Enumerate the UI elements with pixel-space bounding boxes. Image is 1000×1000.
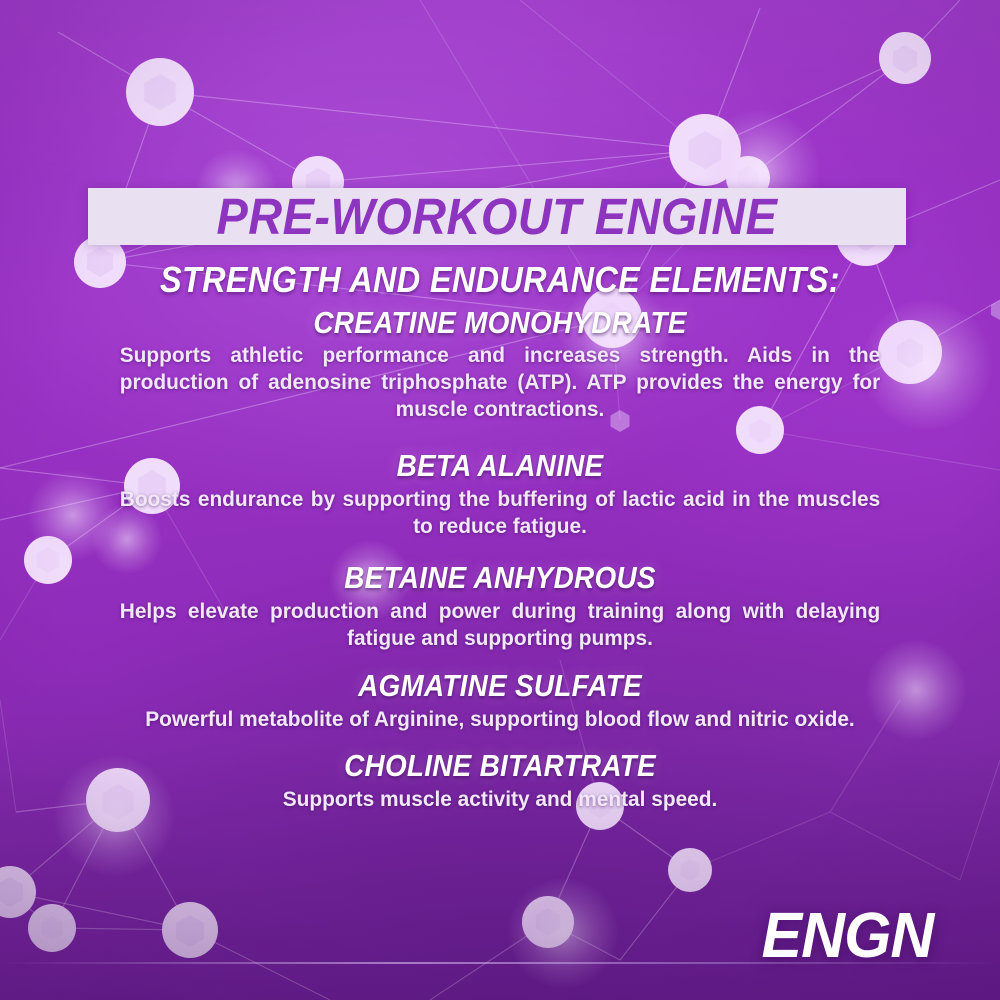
ingredient-heading-creatine-monohydrate: CREATINE MONOHYDRATE xyxy=(50,305,950,341)
poster-content: PRE-WORKOUT ENGINE STRENGTH AND ENDURANC… xyxy=(0,0,1000,1000)
ingredient-description-betaine-anhydrous: Helps elevate production and power durin… xyxy=(120,598,880,652)
brand-logo: ENGN xyxy=(762,898,934,972)
ingredient-heading-beta-alanine: BETA ALANINE xyxy=(50,448,950,484)
poster-canvas: PRE-WORKOUT ENGINE STRENGTH AND ENDURANC… xyxy=(0,0,1000,1000)
ingredient-description-creatine-monohydrate: Supports athletic performance and increa… xyxy=(120,342,880,423)
page-subtitle: STRENGTH AND ENDURANCE ELEMENTS: xyxy=(50,259,950,301)
ingredient-heading-choline-bitartrate: CHOLINE BITARTRATE xyxy=(50,748,950,784)
ingredient-description-agmatine-sulfate: Powerful metabolite of Arginine, support… xyxy=(120,706,880,733)
ingredient-description-choline-bitartrate: Supports muscle activity and mental spee… xyxy=(120,786,880,813)
ingredient-heading-agmatine-sulfate: AGMATINE SULFATE xyxy=(50,668,950,704)
logo-underline-rule xyxy=(0,962,1000,964)
page-title: PRE-WORKOUT ENGINE xyxy=(121,186,874,246)
ingredient-heading-betaine-anhydrous: BETAINE ANHYDROUS xyxy=(50,560,950,596)
ingredient-description-beta-alanine: Boosts endurance by supporting the buffe… xyxy=(120,486,880,540)
